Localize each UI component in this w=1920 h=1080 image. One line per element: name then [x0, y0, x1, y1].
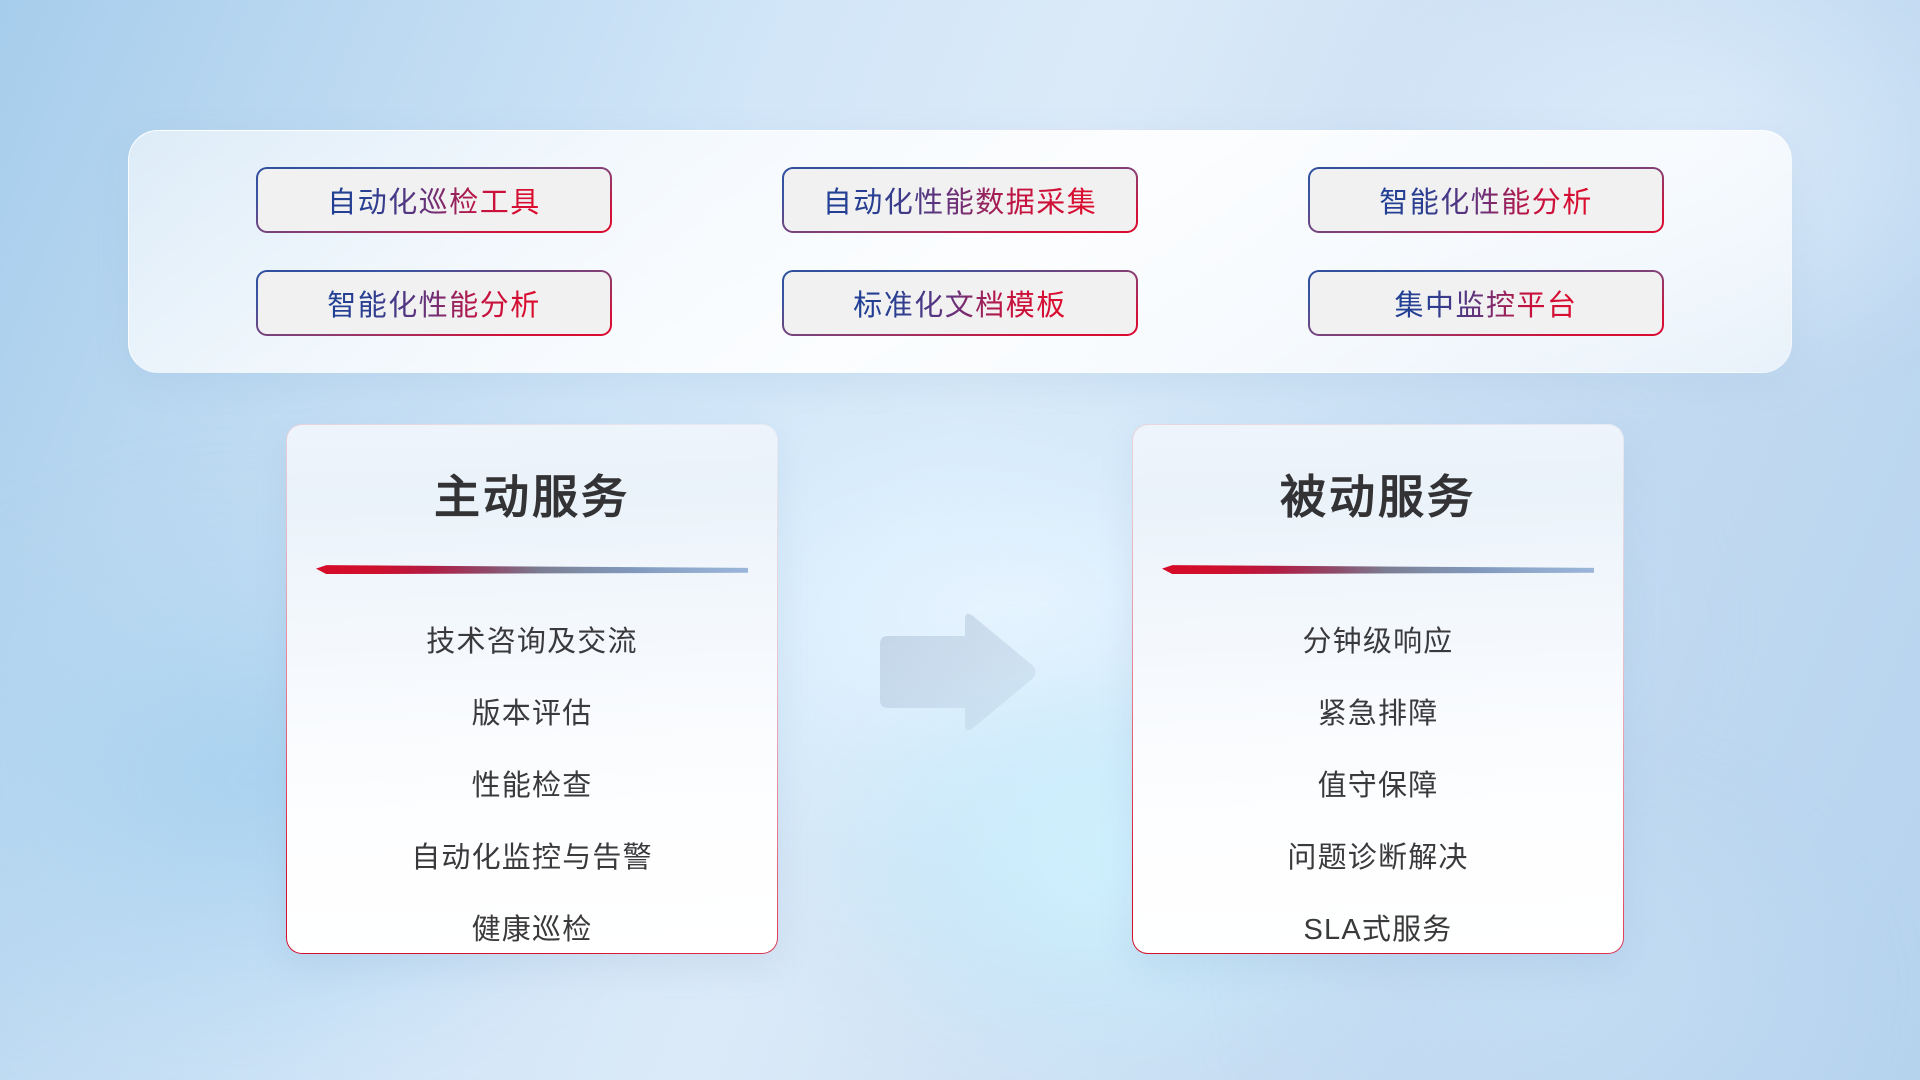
capability-chip-label: 集中监控平台	[1394, 282, 1577, 324]
service-list-item: 性能检查	[472, 762, 593, 804]
service-list-item: 问题诊断解决	[1287, 834, 1468, 876]
capability-chip-label: 智能化性能分析	[327, 282, 541, 324]
capability-panel: 自动化巡检工具 自动化性能数据采集 智能化性能分析 智能化性能分析 标准化文档模…	[128, 130, 1792, 373]
service-card-title: 主动服务	[287, 461, 777, 527]
service-card-title: 被动服务	[1133, 461, 1623, 527]
service-list-item: 技术咨询及交流	[426, 618, 637, 660]
service-card-divider-bar	[316, 565, 748, 574]
service-list-active: 技术咨询及交流 版本评估 性能检查 自动化监控与告警 健康巡检	[287, 618, 777, 948]
service-card-active: 主动服务 技术咨询及交流 版本评估 性能检查 自动化监控与告警 健康巡检	[286, 424, 778, 954]
diagram-stage: 自动化巡检工具 自动化性能数据采集 智能化性能分析 智能化性能分析 标准化文档模…	[0, 0, 1920, 1080]
capability-chip-label: 标准化文档模板	[853, 282, 1067, 324]
service-list-item: 分钟级响应	[1302, 618, 1453, 660]
capability-chip-label: 自动化巡检工具	[327, 179, 541, 221]
capability-chip-grid: 自动化巡检工具 自动化性能数据采集 智能化性能分析 智能化性能分析 标准化文档模…	[129, 131, 1791, 372]
capability-chip-label: 自动化性能数据采集	[823, 179, 1098, 221]
service-list-passive: 分钟级响应 紧急排障 值守保障 问题诊断解决 SLA式服务	[1133, 618, 1623, 948]
capability-chip-1[interactable]: 自动化巡检工具	[256, 167, 612, 233]
capability-chip-6[interactable]: 集中监控平台	[1308, 270, 1664, 336]
service-list-item: 版本评估	[472, 690, 593, 732]
capability-chip-5[interactable]: 标准化文档模板	[782, 270, 1138, 336]
capability-chip-3[interactable]: 智能化性能分析	[1308, 167, 1664, 233]
service-card-divider	[1162, 565, 1594, 574]
capability-chip-label: 智能化性能分析	[1379, 179, 1593, 221]
capability-chip-4[interactable]: 智能化性能分析	[256, 270, 612, 336]
service-list-item: 健康巡检	[472, 906, 593, 948]
service-card-divider-bar	[1162, 565, 1594, 574]
service-card-divider	[316, 565, 748, 574]
service-list-item: 自动化监控与告警	[411, 834, 653, 876]
capability-chip-2[interactable]: 自动化性能数据采集	[782, 167, 1138, 233]
flow-arrow-icon	[872, 610, 1038, 734]
service-list-item: SLA式服务	[1303, 906, 1452, 948]
service-list-item: 值守保障	[1318, 762, 1439, 804]
service-card-passive: 被动服务 分钟级响应 紧急排障 值守保障 问题诊断解决 SLA式服务	[1132, 424, 1624, 954]
service-list-item: 紧急排障	[1318, 690, 1439, 732]
